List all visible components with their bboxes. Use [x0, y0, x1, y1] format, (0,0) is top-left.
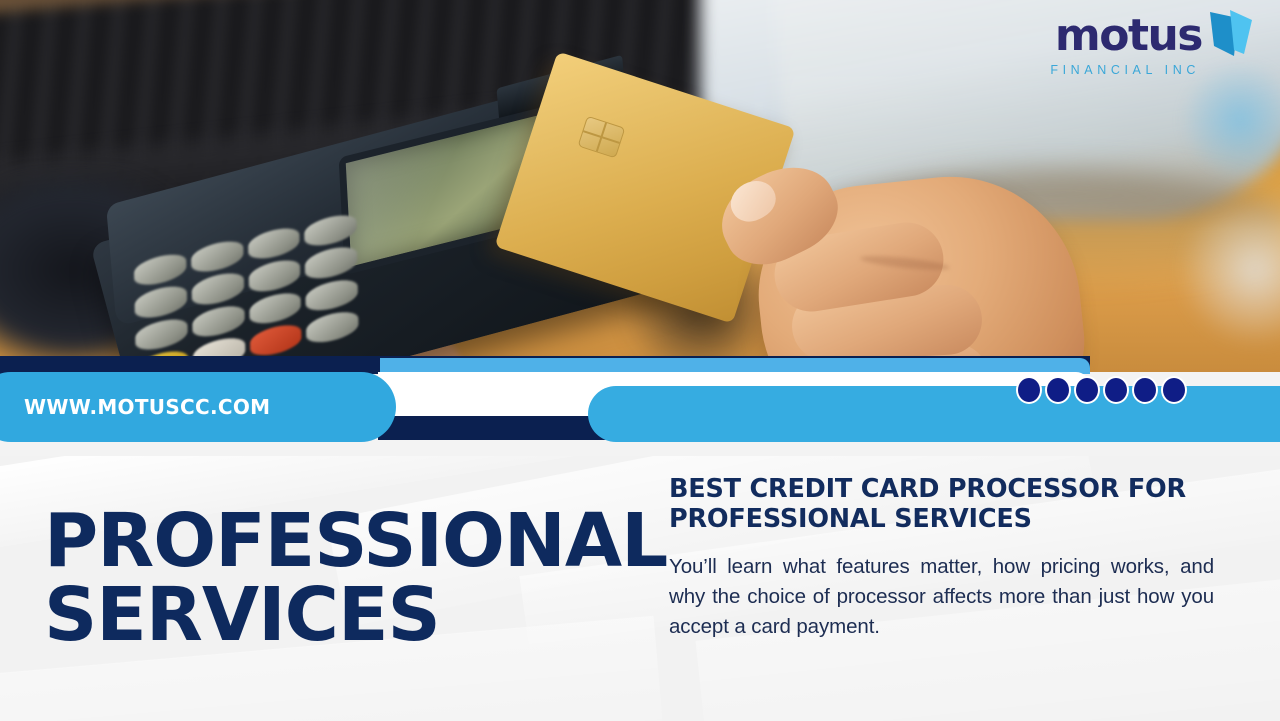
content-section: PROFESSIONAL SERVICES BEST CREDIT CARD P…: [0, 456, 1280, 721]
bokeh-highlight-white: [1180, 190, 1280, 350]
headline-line-1: PROFESSIONAL: [44, 504, 644, 578]
headline-line-2: SERVICES: [44, 578, 644, 652]
text-column: BEST CREDIT CARD PROCESSOR FOR PROFESSIO…: [669, 474, 1214, 641]
brand-logo[interactable]: motus FINANCIAL INC: [1050, 12, 1258, 77]
dot-icon: [1074, 376, 1100, 404]
sail-mark-icon: [1204, 6, 1258, 60]
decorative-dots: [1016, 376, 1187, 404]
logo-wordmark: motus: [1055, 14, 1202, 58]
dot-icon: [1161, 376, 1187, 404]
website-url-text: WWW.MOTUSCC.COM: [24, 395, 270, 419]
card-chip-icon: [577, 116, 625, 159]
main-headline: PROFESSIONAL SERVICES: [44, 504, 644, 652]
dot-icon: [1016, 376, 1042, 404]
logo-subtitle: FINANCIAL INC: [1050, 63, 1200, 77]
url-banner: WWW.MOTUSCC.COM: [0, 356, 1280, 460]
dot-icon: [1132, 376, 1158, 404]
subheading: BEST CREDIT CARD PROCESSOR FOR PROFESSIO…: [669, 474, 1214, 534]
body-paragraph: You’ll learn what features matter, how p…: [669, 552, 1214, 641]
logo-wordmark-row: motus: [1055, 12, 1258, 60]
banner-url-pill[interactable]: WWW.MOTUSCC.COM: [0, 372, 396, 442]
dot-icon: [1103, 376, 1129, 404]
bokeh-highlight-blue: [1180, 60, 1280, 180]
dot-icon: [1045, 376, 1071, 404]
promo-banner-canvas: motus FINANCIAL INC WWW.MOTUSCC.COM: [0, 0, 1280, 721]
customer-hand: [700, 120, 1120, 372]
